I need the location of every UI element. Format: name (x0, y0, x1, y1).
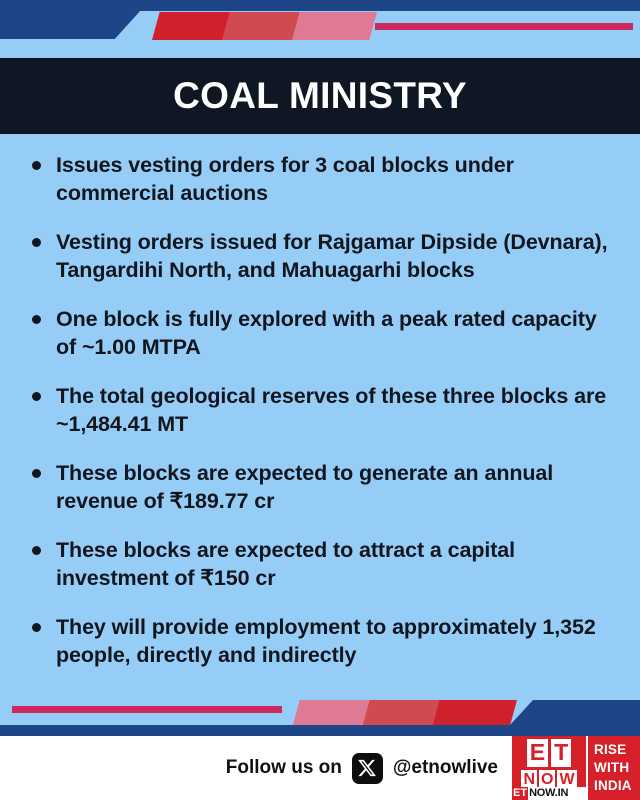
list-item: Issues vesting orders for 3 coal blocks … (28, 152, 620, 207)
top-decorative-band (0, 0, 640, 58)
list-item: These blocks are expected to attract a c… (28, 537, 620, 592)
bullet-dot-icon (32, 469, 41, 478)
bullet-dot-icon (32, 623, 41, 632)
list-item: They will provide employment to approxim… (28, 614, 620, 669)
bullet-dot-icon (32, 315, 41, 324)
bullet-dot-icon (32, 238, 41, 247)
etnow-tagline: RISE WITH INDIA (586, 736, 640, 800)
etnow-et-row: E T (527, 739, 571, 767)
list-item: These blocks are expected to generate an… (28, 460, 620, 515)
bottom-decorative-band (0, 696, 640, 736)
top-band-base-fill (0, 40, 640, 58)
coal-ministry-infographic: COAL MINISTRY Issues vesting orders for … (0, 0, 640, 800)
bottom-red-wedge-3 (432, 700, 517, 728)
etnow-logo-mark: E T N O W ET NOW.IN (512, 736, 586, 800)
list-item-text: Issues vesting orders for 3 coal blocks … (56, 153, 514, 205)
social-handle[interactable]: @etnowlive (393, 757, 498, 779)
tagline-line-1: RISE (594, 741, 640, 759)
list-item-text: One block is fully explored with a peak … (56, 307, 597, 359)
tagline-line-2: WITH (594, 759, 640, 777)
title-bar: COAL MINISTRY (0, 58, 640, 134)
list-item: One block is fully explored with a peak … (28, 306, 620, 361)
list-item-text: These blocks are expected to generate an… (56, 461, 553, 513)
follow-us-block: Follow us on @etnowlive (226, 753, 498, 784)
bottom-dark-blue-strip (0, 725, 640, 736)
bottom-red-rule (12, 706, 282, 713)
follow-us-label: Follow us on (226, 757, 342, 779)
page-title: COAL MINISTRY (173, 75, 467, 117)
top-red-wedge-3 (292, 12, 377, 40)
x-twitter-icon[interactable] (352, 753, 383, 784)
footer-bar: Follow us on @etnowlive E T N O W (0, 736, 640, 800)
bullet-list: Issues vesting orders for 3 coal blocks … (28, 152, 620, 669)
etnow-url-suffix: NOW.IN (528, 788, 568, 799)
content-area: Issues vesting orders for 3 coal blocks … (0, 134, 640, 696)
etnow-url-strip[interactable]: ET NOW.IN (512, 787, 586, 800)
bullet-dot-icon (32, 392, 41, 401)
top-red-rule (375, 23, 633, 30)
list-item-text: They will provide employment to approxim… (56, 615, 596, 667)
list-item: Vesting orders issued for Rajgamar Dipsi… (28, 229, 620, 284)
tagline-line-3: INDIA (594, 777, 640, 795)
bullet-dot-icon (32, 161, 41, 170)
list-item-text: The total geological reserves of these t… (56, 384, 606, 436)
bullet-dot-icon (32, 546, 41, 555)
etnow-logo[interactable]: E T N O W ET NOW.IN RISE WITH INDIA (512, 736, 640, 800)
top-blue-wedge-shape (0, 0, 150, 39)
etnow-letter-e: E (527, 739, 548, 767)
list-item-text: These blocks are expected to attract a c… (56, 538, 515, 590)
list-item: The total geological reserves of these t… (28, 383, 620, 438)
etnow-letter-t: T (551, 739, 571, 767)
list-item-text: Vesting orders issued for Rajgamar Dipsi… (56, 230, 608, 282)
etnow-url-prefix: ET (512, 787, 528, 800)
